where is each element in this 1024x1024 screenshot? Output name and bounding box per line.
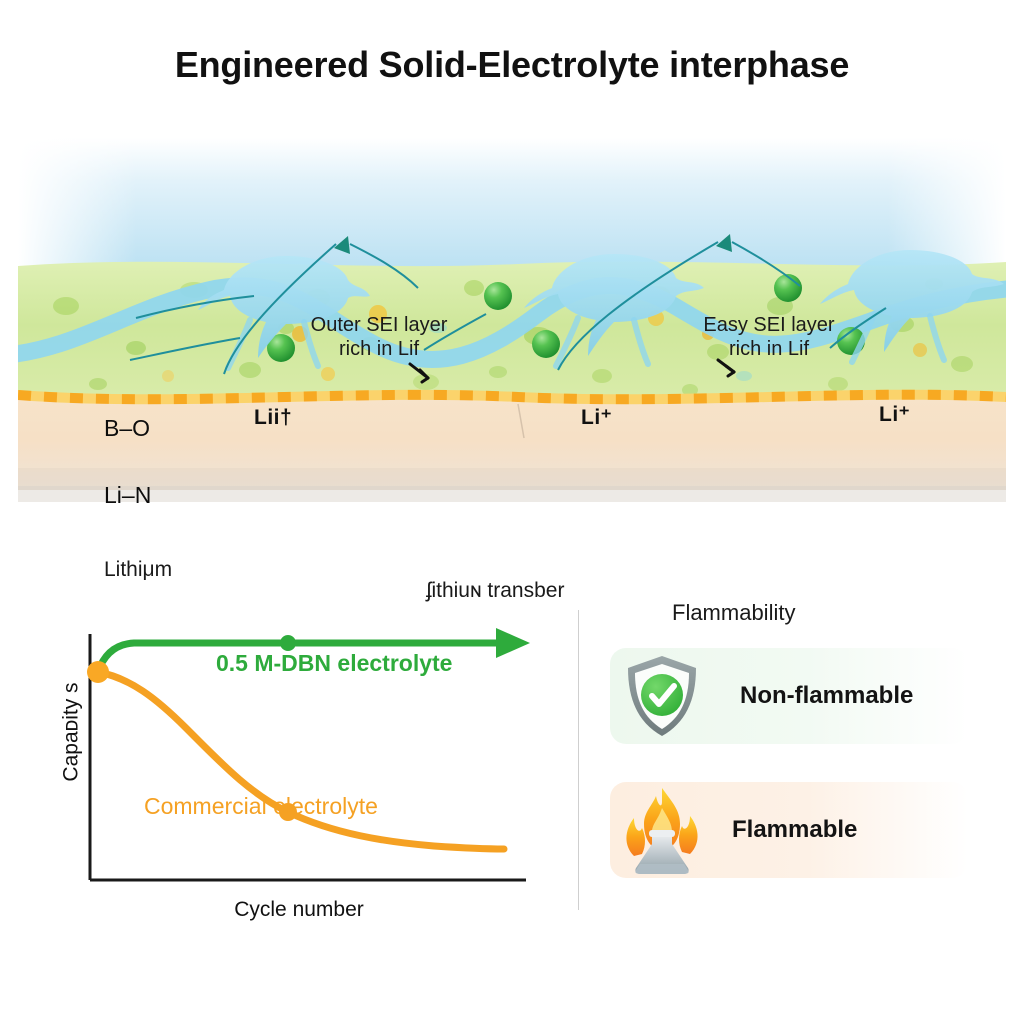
non-flammable-card[interactable]: Non-flammable: [610, 648, 968, 744]
panel-divider: [578, 610, 579, 910]
chart-origin-marker: [87, 661, 109, 683]
chart-x-axis-label: Cycle number: [34, 898, 564, 922]
page-title: Engineered Solid-Electrolyte interphase: [0, 44, 1024, 86]
sei-schematic: Outer SEI layer rich in Lif Easy SEI lay…: [18, 138, 1006, 513]
non-flammable-label: Non-flammable: [740, 682, 913, 710]
flammable-card[interactable]: Flammable: [610, 782, 968, 878]
flame-flask-icon: [610, 782, 714, 878]
flammable-label: Flammable: [732, 816, 857, 844]
series-label-commercial: Commercial electrolyte: [144, 793, 378, 820]
series-label-dbn: 0.5 M-DBN electrolyte: [216, 650, 452, 677]
chart-y-axis-label: Capaᴅity s: [60, 682, 84, 781]
lithium-metal-layer: [18, 400, 1006, 502]
electrolyte-region: [18, 138, 1006, 274]
shield-check-icon: [610, 648, 714, 744]
series-commercial-electrolyte: [98, 672, 504, 849]
flammability-heading: Flammability: [672, 600, 795, 626]
bottom-panels: Capaᴅity s Cycle number 0.5 M-DBN electr…: [0, 580, 1024, 960]
flammability-panel: Flammability: [610, 600, 992, 900]
interface-band: [18, 396, 1006, 401]
capacity-retention-chart: Capaᴅity s Cycle number 0.5 M-DBN electr…: [34, 598, 564, 928]
diagram-canvas: Engineered Solid-Electrolyte interphase: [0, 0, 1024, 1024]
